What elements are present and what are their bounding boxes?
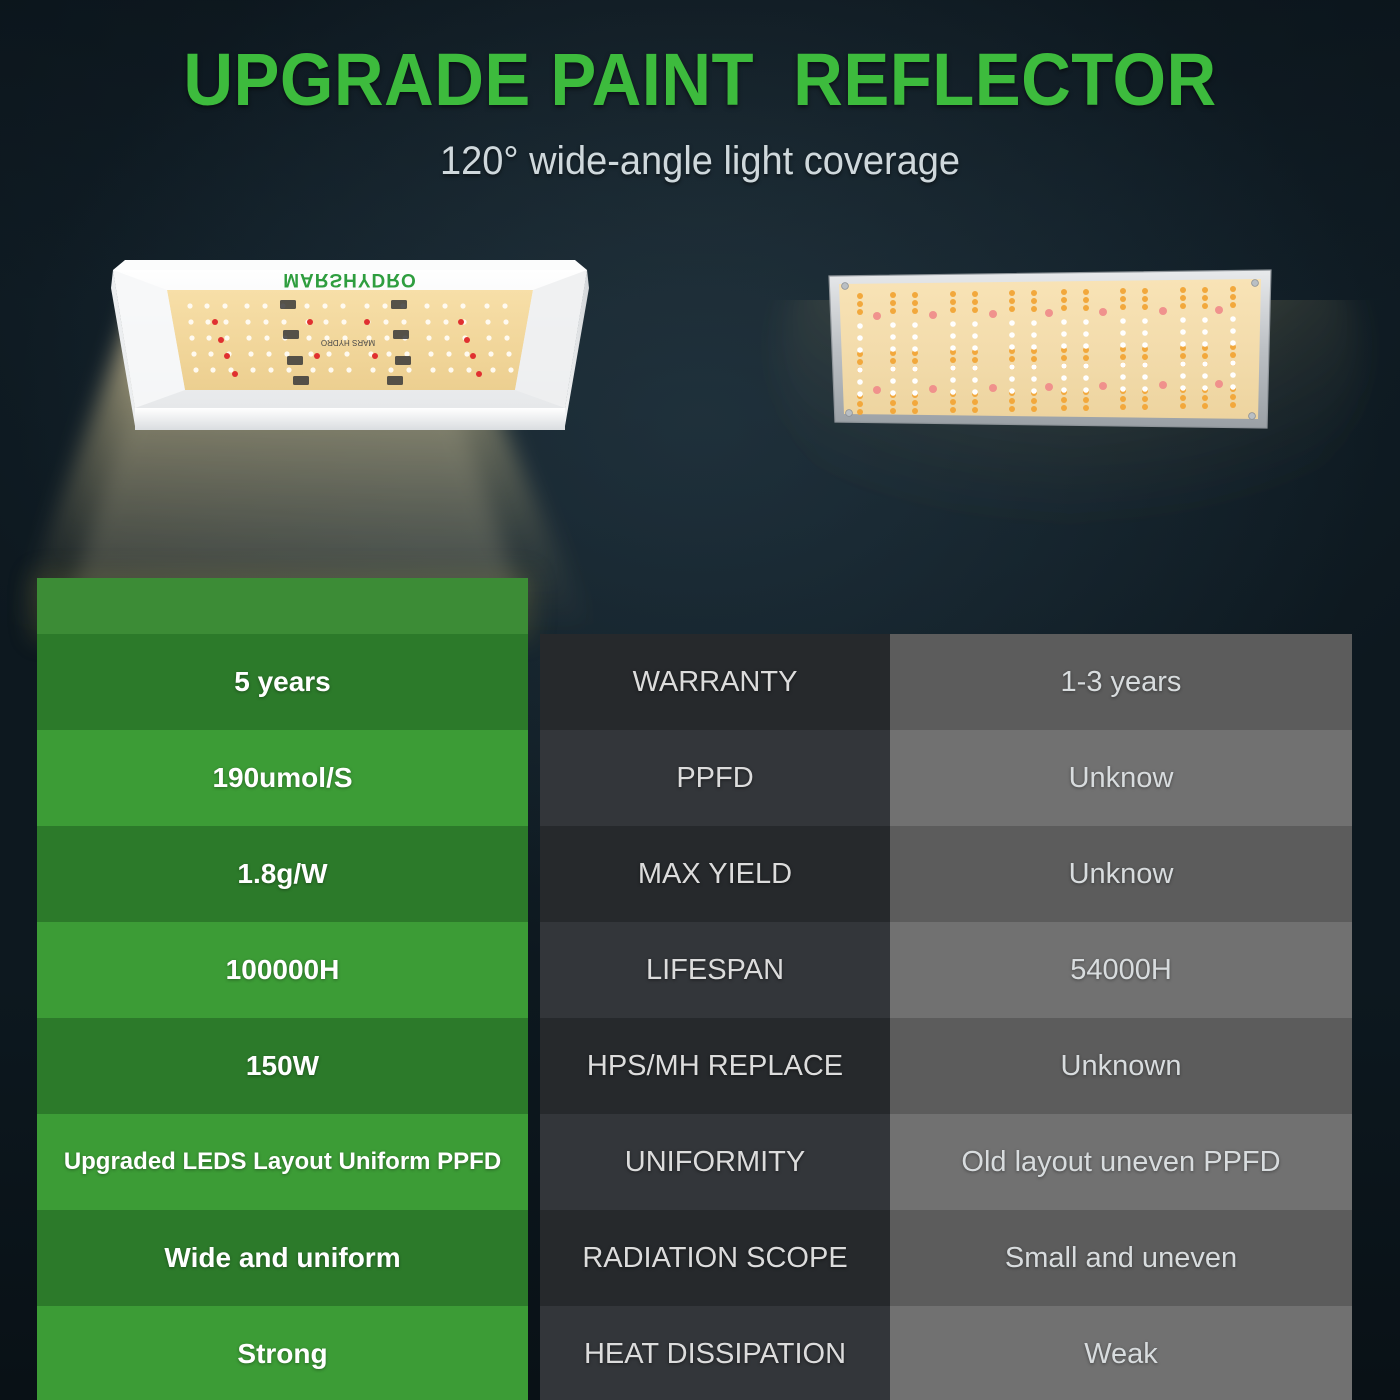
table-row: 1-3 years xyxy=(890,634,1352,730)
table-row: Unknown xyxy=(890,1018,1352,1114)
product-image-upgraded-reflector: MARSHYDRO xyxy=(95,248,605,448)
table-row: Old layout uneven PPFD xyxy=(890,1114,1352,1210)
table-row: Weak xyxy=(890,1306,1352,1400)
table-row: RADIATION SCOPE xyxy=(540,1210,890,1306)
table-row: Upgraded LEDS Layout Uniform PPFD xyxy=(37,1114,528,1210)
table-row: 5 years xyxy=(37,634,528,730)
mid-column-spacer xyxy=(540,578,890,634)
green-header-band xyxy=(37,578,528,634)
table-row: UNIFORMITY xyxy=(540,1114,890,1210)
comparison-table: 5 years 190umol/S 1.8g/W 100000H 150W Up… xyxy=(0,578,1400,1400)
table-row: 150W xyxy=(37,1018,528,1114)
table-row: Small and uneven xyxy=(890,1210,1352,1306)
table-row: WARRANTY xyxy=(540,634,890,730)
product-image-standard-panel xyxy=(815,258,1285,448)
table-row: Unknow xyxy=(890,730,1352,826)
svg-text:MARS HYDRO: MARS HYDRO xyxy=(321,338,375,347)
table-row: 190umol/S xyxy=(37,730,528,826)
infographic-stage: UPGRADE PAINT REFLECTOR 120° wide-angle … xyxy=(0,0,1400,1400)
table-row: 100000H xyxy=(37,922,528,1018)
table-row: Strong xyxy=(37,1306,528,1400)
table-row: Unknow xyxy=(890,826,1352,922)
table-row: 54000H xyxy=(890,922,1352,1018)
table-row: HPS/MH REPLACE xyxy=(540,1018,890,1114)
table-row: Wide and uniform xyxy=(37,1210,528,1306)
table-row: HEAT DISSIPATION xyxy=(540,1306,890,1400)
column-standard-product: 1-3 years Unknow Unknow 54000H Unknown O… xyxy=(890,578,1352,1400)
page-title: UPGRADE PAINT REFLECTOR xyxy=(49,0,1351,119)
page-subtitle: 120° wide-angle light coverage xyxy=(35,119,1365,184)
table-row: LIFESPAN xyxy=(540,922,890,1018)
right-column-spacer xyxy=(890,578,1352,634)
table-row: 1.8g/W xyxy=(37,826,528,922)
svg-text:MARSHYDRO: MARSHYDRO xyxy=(283,269,417,290)
column-feature-labels: WARRANTY PPFD MAX YIELD LIFESPAN HPS/MH … xyxy=(540,578,890,1400)
table-row: PPFD xyxy=(540,730,890,826)
table-row: MAX YIELD xyxy=(540,826,890,922)
header: UPGRADE PAINT REFLECTOR 120° wide-angle … xyxy=(0,0,1400,184)
column-upgraded-product: 5 years 190umol/S 1.8g/W 100000H 150W Up… xyxy=(37,578,528,1400)
